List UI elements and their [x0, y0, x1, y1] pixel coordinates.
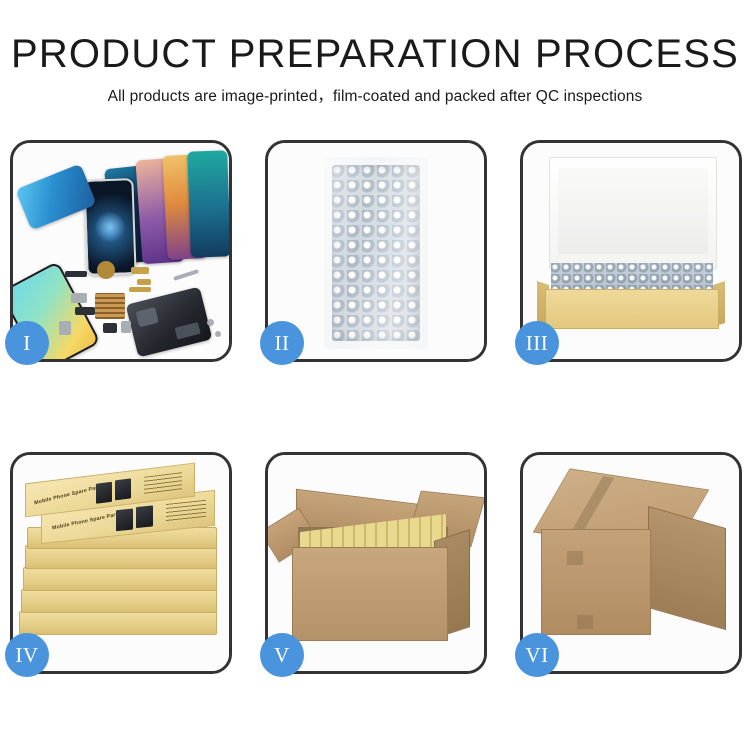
- process-steps-grid: I II: [10, 140, 742, 740]
- phones-and-parts-scene: [13, 143, 229, 359]
- bubble-wrap-pouch: [324, 157, 428, 349]
- gold-connector-part-icon: [131, 267, 149, 274]
- step-badge-1: I: [5, 321, 49, 365]
- step-1-image: [13, 143, 229, 359]
- sealed-carton-front-panel: [541, 529, 651, 635]
- box-spec-lines-front: [166, 500, 206, 524]
- process-step-card-1: I: [10, 140, 232, 362]
- page-subtitle: All products are image-printed，film-coat…: [0, 84, 750, 106]
- screw-part-icon: [207, 319, 214, 326]
- chip-array-icon: [95, 293, 125, 319]
- step-badge-4: IV: [5, 633, 49, 677]
- carton-handle-slot-top: [567, 551, 583, 565]
- flex-cable-part-icon: [65, 271, 87, 277]
- step-badge-2: II: [260, 321, 304, 365]
- tweezers-icon: [173, 269, 199, 281]
- gold-bracket-part-icon: [137, 279, 151, 285]
- bubble-wrap-sheen: [324, 157, 428, 349]
- step-6-image: [523, 455, 739, 671]
- box-label-front: Mobile Phone Spare Parts: [52, 511, 121, 531]
- phone-display-teal-icon: [187, 150, 229, 257]
- box-spec-lines-back: [144, 472, 182, 496]
- stacked-box-bottom-2: [21, 589, 217, 613]
- sealed-carton-scene: [523, 455, 739, 671]
- coil-part-icon: [97, 261, 115, 279]
- product-preparation-process-page: PRODUCT PREPARATION PROCESS All products…: [0, 0, 750, 750]
- step-5-image: [268, 455, 484, 671]
- carton-front-panel: [292, 547, 448, 641]
- box-stack: Mobile Phone Spare Parts Mobile Phone Sp…: [19, 471, 224, 661]
- button-part-icon: [121, 321, 131, 333]
- process-step-card-2: II: [265, 140, 487, 362]
- speaker-part-icon: [75, 307, 95, 315]
- sim-tray-part-icon: [59, 321, 71, 335]
- stacked-box-bottom-1: [19, 611, 217, 635]
- carton-handle-slot-bottom: [577, 615, 593, 629]
- process-step-card-3: III: [520, 140, 742, 362]
- header: PRODUCT PREPARATION PROCESS All products…: [0, 0, 750, 128]
- box-phone-photo-front-1: [116, 508, 133, 531]
- process-step-card-4: Mobile Phone Spare Parts Mobile Phone Sp…: [10, 452, 232, 674]
- box-front-panel: [545, 289, 719, 329]
- step-4-image: Mobile Phone Spare Parts Mobile Phone Sp…: [13, 455, 229, 671]
- process-step-card-6: VI: [520, 452, 742, 674]
- box-lid-open-icon: [549, 157, 717, 269]
- box-label-back: Mobile Phone Spare Parts: [34, 484, 103, 507]
- metal-shield-part-icon: [71, 293, 87, 303]
- step-badge-6: VI: [515, 633, 559, 677]
- screw-small-part-icon: [215, 331, 221, 337]
- step-badge-5: V: [260, 633, 304, 677]
- sealed-carton-right-panel: [648, 506, 726, 630]
- bubble-wrap-fill-icon: [551, 263, 713, 291]
- stacked-boxes-scene: Mobile Phone Spare Parts Mobile Phone Sp…: [13, 455, 229, 671]
- open-kraft-box-scene: [523, 143, 739, 359]
- page-title: PRODUCT PREPARATION PROCESS: [0, 32, 750, 77]
- phone-back-housing-icon: [126, 287, 213, 358]
- bubble-wrap-scene: [268, 143, 484, 359]
- ribbon-cable-part-icon: [129, 287, 151, 292]
- box-phone-photo-back-2: [115, 478, 131, 500]
- step-3-image: [523, 143, 739, 359]
- box-phone-photo-back-1: [96, 482, 112, 504]
- camera-module-part-icon: [103, 323, 117, 333]
- step-2-image: [268, 143, 484, 359]
- process-step-card-5: V: [265, 452, 487, 674]
- stacked-box-bottom-3: [23, 567, 217, 591]
- box-phone-photo-front-2: [136, 505, 153, 528]
- open-carton-scene: [268, 455, 484, 671]
- box-lid-inner-surface: [558, 168, 708, 254]
- step-badge-3: III: [515, 321, 559, 365]
